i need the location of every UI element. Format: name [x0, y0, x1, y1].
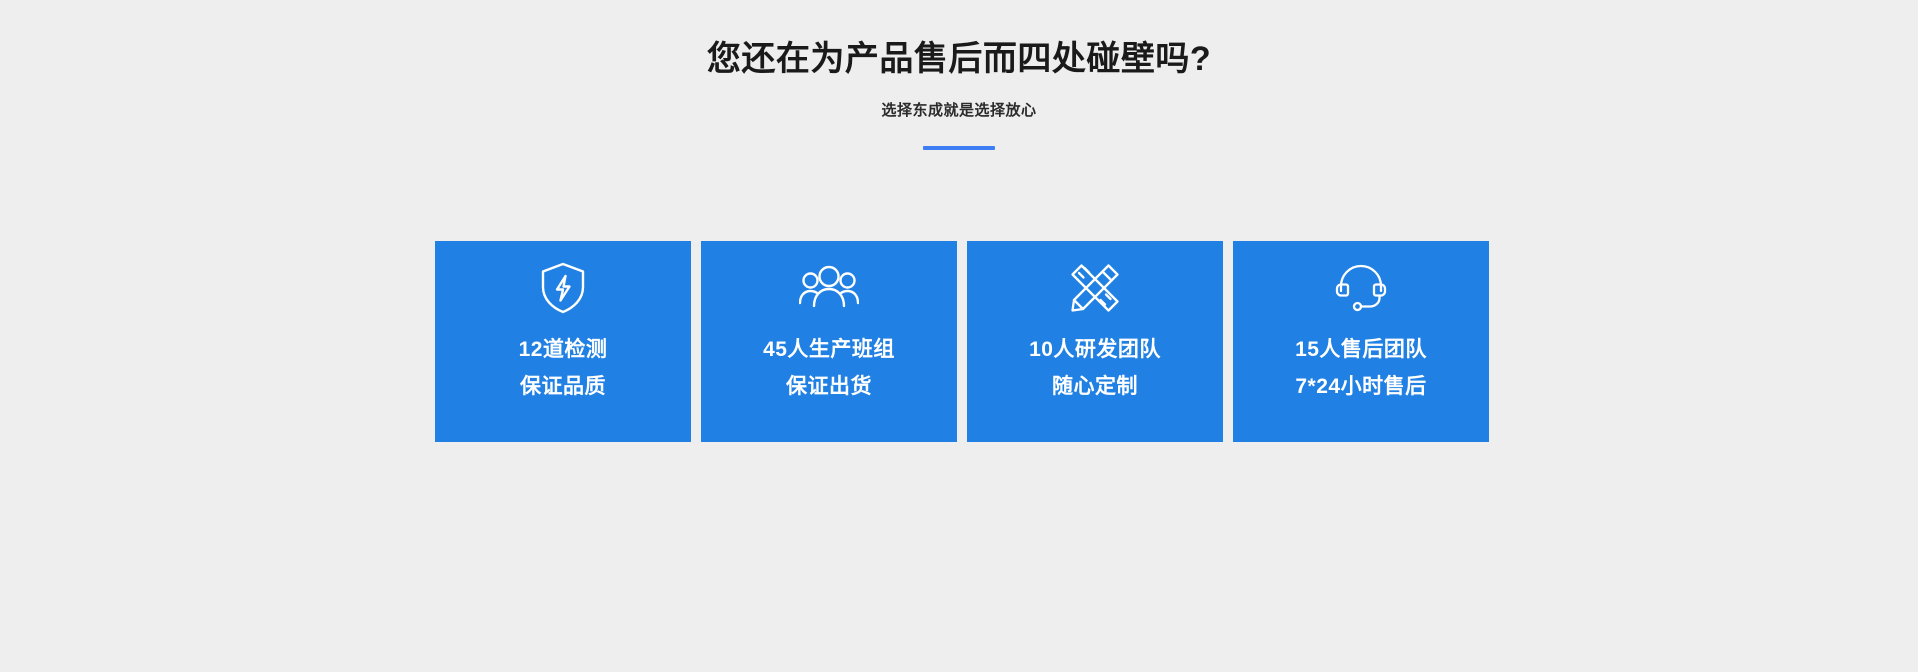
feature-card-line2: 保证品质: [519, 368, 608, 405]
feature-card-text: 45人生产班组 保证出货: [763, 331, 895, 405]
feature-card-line1: 15人售后团队: [1295, 331, 1427, 368]
feature-cards-row: 12道检测 保证品质 45人生产班组: [435, 241, 1489, 442]
heading-block: 您还在为产品售后而四处碰壁吗? 选择东成就是选择放心: [0, 36, 1918, 150]
feature-card-production[interactable]: 45人生产班组 保证出货: [701, 241, 957, 442]
feature-card-line1: 12道检测: [519, 331, 608, 368]
feature-card-support[interactable]: 15人售后团队 7*24小时售后: [1233, 241, 1489, 442]
page-subtitle: 选择东成就是选择放心: [0, 100, 1918, 122]
title-divider: [923, 146, 995, 150]
feature-card-quality[interactable]: 12道检测 保证品质: [435, 241, 691, 442]
feature-card-text: 12道检测 保证品质: [519, 331, 608, 405]
page-title: 您还在为产品售后而四处碰壁吗?: [0, 36, 1918, 82]
feature-card-line2: 保证出货: [763, 368, 895, 405]
feature-card-line1: 10人研发团队: [1029, 331, 1161, 368]
people-group-icon: [797, 257, 861, 319]
feature-card-text: 10人研发团队 随心定制: [1029, 331, 1161, 405]
headset-icon: [1329, 257, 1393, 319]
feature-card-rnd[interactable]: 10人研发团队 随心定制: [967, 241, 1223, 442]
feature-card-line1: 45人生产班组: [763, 331, 895, 368]
page-root: 您还在为产品售后而四处碰壁吗? 选择东成就是选择放心 12道检测 保证品质: [0, 0, 1918, 672]
feature-card-text: 15人售后团队 7*24小时售后: [1295, 331, 1427, 405]
feature-card-line2: 随心定制: [1029, 368, 1161, 405]
pencil-ruler-icon: [1063, 257, 1127, 319]
feature-card-line2: 7*24小时售后: [1295, 368, 1427, 405]
shield-lightning-icon: [531, 257, 595, 319]
